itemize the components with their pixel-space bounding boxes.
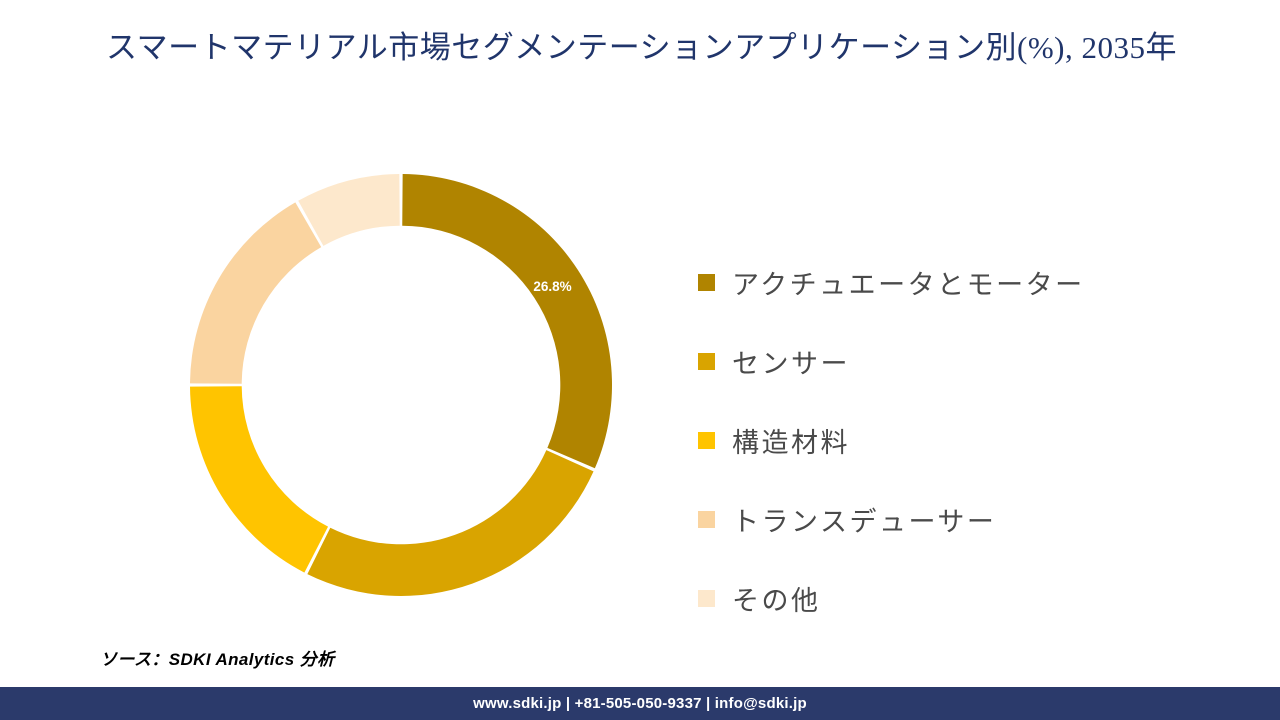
- footer-contact-text: www.sdki.jp | +81-505-050-9337 | info@sd…: [473, 695, 807, 712]
- slide-canvas: スマートマテリアル市場セグメンテーションアプリケーション別(%), 2035年 …: [0, 0, 1280, 720]
- donut-chart: 26.8%: [188, 172, 614, 598]
- donut-label-group: 26.8%: [533, 279, 571, 294]
- donut-chart-svg: 26.8%: [188, 172, 614, 598]
- legend-swatch-icon: [698, 353, 715, 370]
- legend-item-label: トランスデューサー: [732, 500, 996, 539]
- donut-slice[interactable]: [307, 450, 593, 596]
- legend-item-label: その他: [732, 579, 821, 618]
- donut-slice-label: 26.8%: [533, 279, 571, 294]
- chart-legend: アクチュエータとモーター センサー 構造材料 トランスデューサー その他: [698, 243, 1218, 638]
- donut-slice[interactable]: [190, 386, 328, 572]
- legend-swatch-icon: [698, 274, 715, 291]
- legend-swatch-icon: [698, 511, 715, 528]
- legend-item-structural-materials[interactable]: 構造材料: [698, 401, 1218, 480]
- legend-item-others[interactable]: その他: [698, 559, 1218, 638]
- legend-item-label: センサー: [732, 342, 850, 381]
- legend-item-actuators-motors[interactable]: アクチュエータとモーター: [698, 243, 1218, 322]
- donut-slice-group: [190, 174, 612, 596]
- legend-item-sensors[interactable]: センサー: [698, 322, 1218, 401]
- source-note: ソース：SDKI Analytics 分析: [100, 645, 335, 670]
- legend-swatch-icon: [698, 432, 715, 449]
- legend-item-label: 構造材料: [732, 421, 850, 460]
- legend-item-transducers[interactable]: トランスデューサー: [698, 480, 1218, 559]
- donut-slice[interactable]: [190, 202, 321, 383]
- donut-slice[interactable]: [402, 174, 612, 468]
- legend-item-label: アクチュエータとモーター: [732, 263, 1085, 302]
- legend-swatch-icon: [698, 590, 715, 607]
- footer-bar: www.sdki.jp | +81-505-050-9337 | info@sd…: [0, 687, 1280, 720]
- page-title: スマートマテリアル市場セグメンテーションアプリケーション別(%), 2035年: [64, 24, 1219, 71]
